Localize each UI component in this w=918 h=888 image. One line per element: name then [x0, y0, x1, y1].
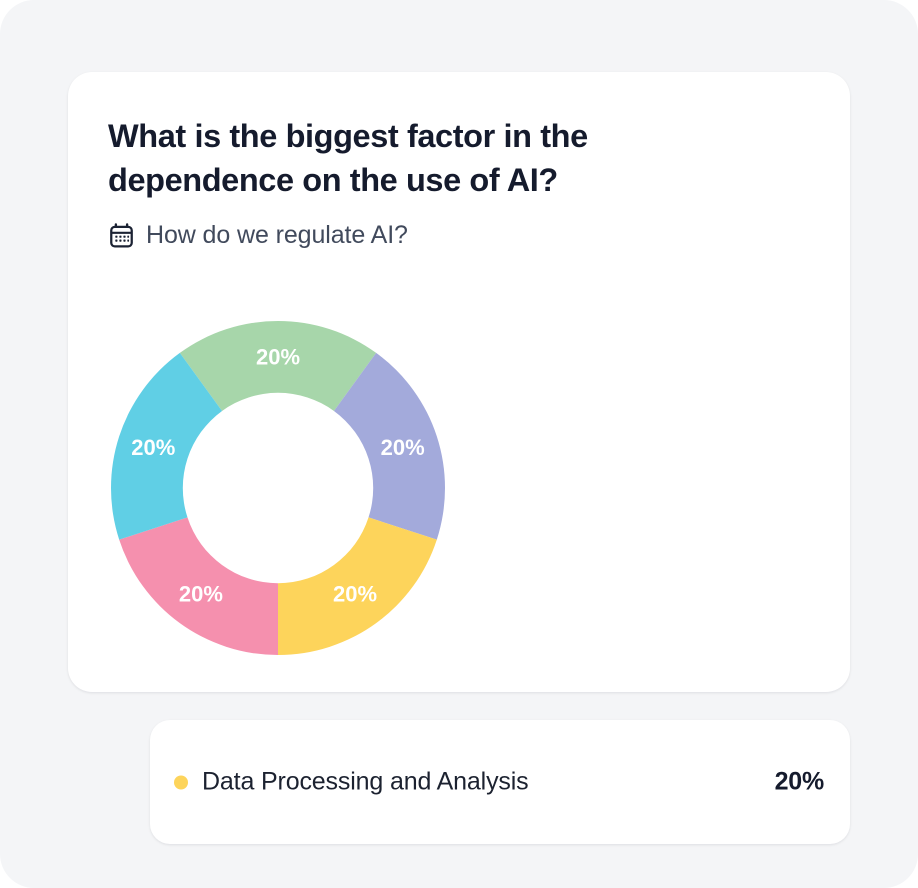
legend-card: Data Processing and Analysis 20%: [150, 720, 850, 844]
donut-chart-svg: 20%20%20%20%20%: [106, 320, 506, 664]
donut-slice-label: 20%: [131, 435, 175, 460]
donut-slice-label: 20%: [179, 582, 223, 607]
page-title: What is the biggest factor in the depend…: [108, 114, 718, 202]
donut-slice-group: [111, 321, 445, 655]
donut-chart: 20%20%20%20%20%: [106, 320, 506, 664]
chart-card: What is the biggest factor in the depend…: [68, 72, 850, 692]
calendar-icon: [108, 222, 135, 249]
subtitle-row: How do we regulate AI?: [108, 220, 408, 250]
donut-slice-label: 20%: [381, 435, 425, 460]
donut-slice-label: 20%: [333, 582, 377, 607]
screen-root: What is the biggest factor in the depend…: [0, 0, 918, 888]
donut-slice-label: 20%: [256, 344, 300, 369]
legend-item-label: Data Processing and Analysis: [202, 768, 761, 797]
legend-color-dot-icon: [174, 775, 188, 789]
legend-item-value: 20%: [775, 768, 824, 797]
page-subtitle: How do we regulate AI?: [146, 220, 408, 250]
legend-item[interactable]: Data Processing and Analysis 20%: [174, 768, 824, 797]
